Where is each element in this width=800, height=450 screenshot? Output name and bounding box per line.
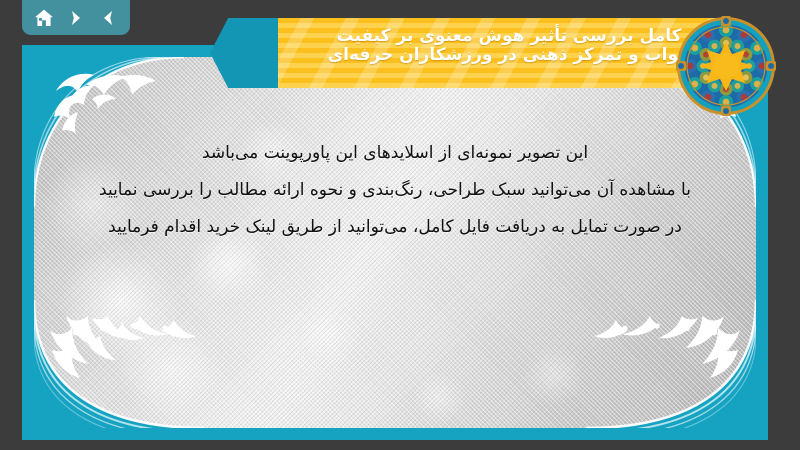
banner-body: کامل بررسی تأثیر هوش معنوی بر کیفیت خواب…: [278, 18, 730, 88]
title-line-2: خواب و تمرکز ذهنی در ورزشکاران حرفه‌ای: [314, 46, 704, 65]
body-line-1: این تصویر نمونه‌ای از اسلایدهای این پاور…: [52, 145, 738, 162]
title-banner: کامل بررسی تأثیر هوش معنوی بر کیفیت خواب…: [210, 18, 730, 88]
slide-stage: این تصویر نمونه‌ای از اسلایدهای این پاور…: [0, 0, 800, 450]
body-line-2: با مشاهده آن می‌توانید سبک طراحی، رنگ‌بن…: [52, 182, 738, 199]
title-line-1: کامل بررسی تأثیر هوش معنوی بر کیفیت: [314, 27, 704, 46]
content-panel: [34, 57, 756, 428]
body-line-3: در صورت تمایل به دریافت فایل کامل، می‌تو…: [52, 219, 738, 236]
slide-body-text: این تصویر نمونه‌ای از اسلایدهای این پاور…: [52, 145, 738, 236]
triangle-left-icon: [98, 8, 118, 28]
slide-frame: این تصویر نمونه‌ای از اسلایدهای این پاور…: [22, 45, 768, 440]
banner-arrow-shape: [210, 18, 280, 88]
triangle-right-icon: [66, 8, 86, 28]
home-icon: [33, 7, 55, 29]
navigation-bar: [22, 0, 130, 35]
forward-button[interactable]: [63, 5, 89, 31]
persian-medallion-icon: [674, 14, 778, 118]
back-button[interactable]: [95, 5, 121, 31]
home-button[interactable]: [31, 5, 57, 31]
page-title: کامل بررسی تأثیر هوش معنوی بر کیفیت خواب…: [278, 18, 730, 65]
